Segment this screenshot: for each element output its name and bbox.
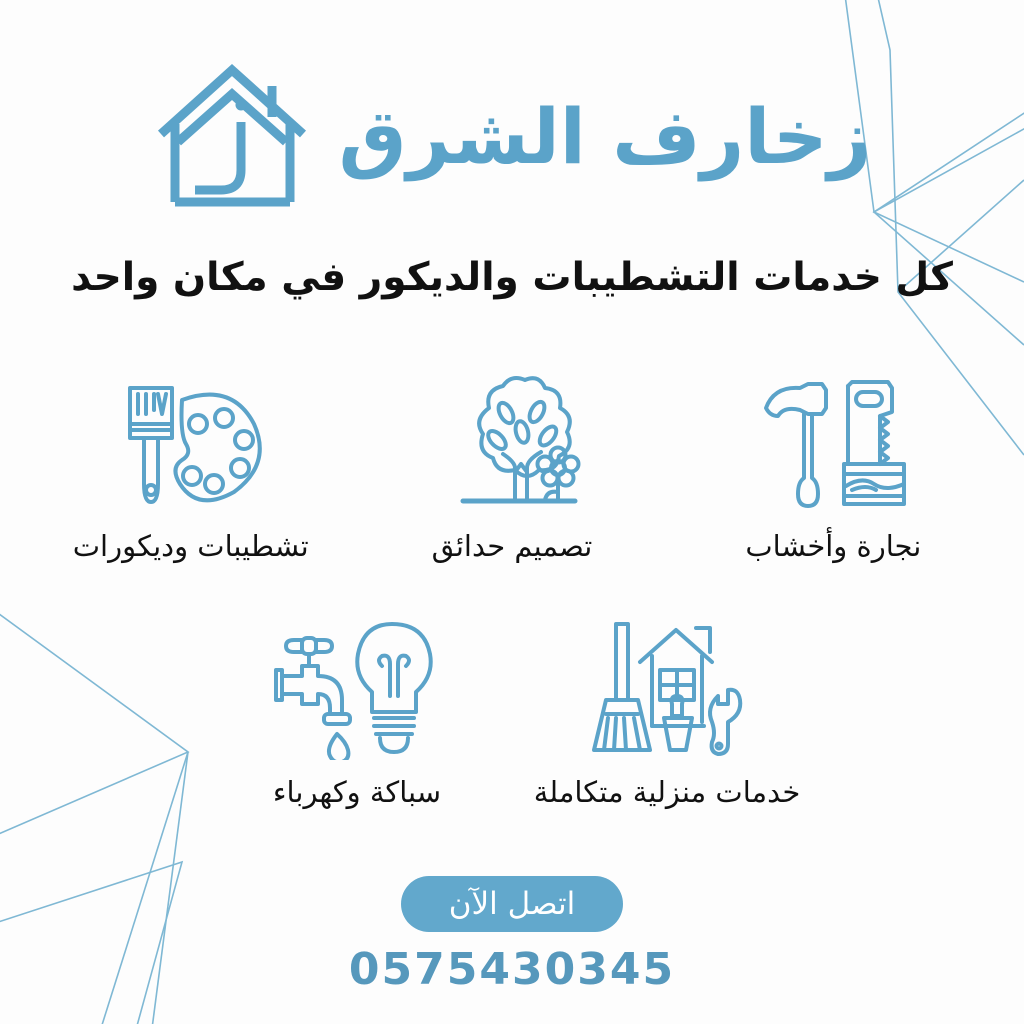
service-label: تشطيبات وديكورات [73, 528, 309, 564]
tagline: كل خدمات التشطيبات والديكور في مكان واحد [60, 252, 964, 303]
call-now-button[interactable]: اتصل الآن [401, 876, 623, 932]
tree-flower-icon [427, 372, 597, 514]
faucet-lightbulb-icon [272, 618, 442, 760]
poster-canvas: زخارف الشرق كل خد [0, 0, 1024, 1024]
service-label: سباكة وكهرباء [273, 774, 441, 810]
service-item-carpentry-wood[interactable]: نجارة وأخشاب [713, 372, 954, 564]
service-item-finishing-decor[interactable]: تشطيبات وديكورات [70, 372, 311, 564]
services-row-one: تشطيبات وديكورات [70, 372, 954, 564]
service-label: خدمات منزلية متكاملة [534, 774, 801, 810]
service-item-plumbing-electricity[interactable]: سباكة وكهرباء [232, 618, 482, 810]
brand-name-text: زخارف الشرق [339, 99, 872, 175]
service-item-home-services[interactable]: خدمات منزلية متكاملة [542, 618, 792, 810]
broom-house-wrench-icon [582, 618, 752, 760]
brand-name: زخارف الشرق [339, 99, 872, 175]
service-label: نجارة وأخشاب [745, 528, 921, 564]
paintbrush-palette-icon [106, 372, 276, 514]
hammer-saw-wood-icon [748, 372, 918, 514]
phone-number[interactable]: 0575430345 [0, 944, 1024, 995]
service-label: تصميم حدائق [432, 528, 593, 564]
services-row-two: سباكة وكهرباء [180, 618, 844, 810]
house-with-zay-letter-icon [153, 62, 313, 212]
service-item-garden-design[interactable]: تصميم حدائق [391, 372, 632, 564]
brand-logo: زخارف الشرق [0, 62, 1024, 212]
